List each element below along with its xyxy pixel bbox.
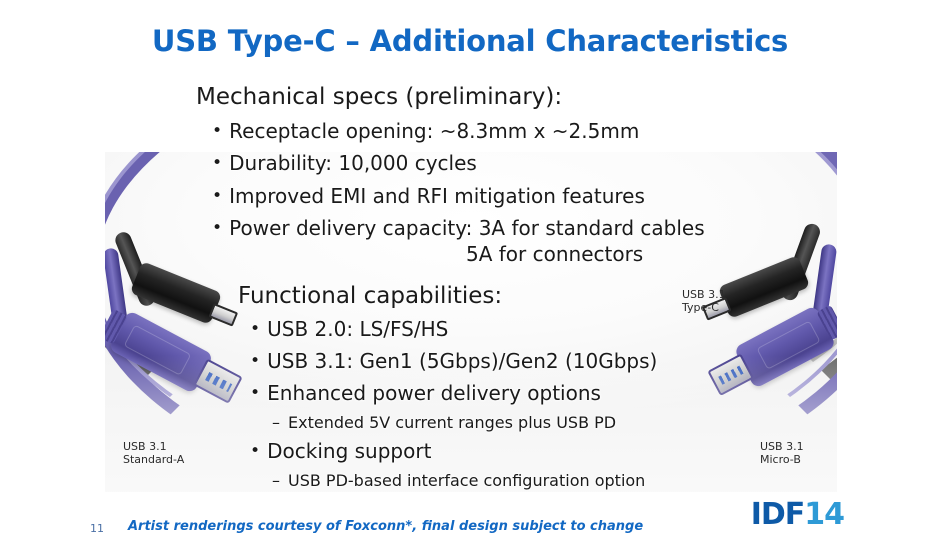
functional-subbullet-usb-pd-interface: USB PD-based interface configuration opt… — [272, 471, 645, 490]
idf-logo: IDF14 — [751, 500, 844, 530]
mechanical-bullet-durability: Durability: 10,000 cycles — [212, 151, 477, 175]
mechanical-bullet-emi-rfi: Improved EMI and RFI mitigation features — [212, 184, 645, 208]
mechanical-bullet-power-delivery: Power delivery capacity: 3A for standard… — [212, 216, 705, 240]
slide-number: 11 — [90, 522, 104, 535]
mechanical-specs-heading: Mechanical specs (preliminary): — [196, 84, 562, 110]
slide-root: USB Type-C – Additional Characteristics — [0, 0, 940, 540]
functional-bullet-docking-support: Docking support — [250, 439, 431, 463]
functional-capabilities-heading: Functional capabilities: — [238, 283, 502, 309]
mechanical-power-delivery-continuation: 5A for connectors — [466, 242, 643, 266]
functional-bullet-usb20: USB 2.0: LS/FS/HS — [250, 317, 448, 341]
functional-bullet-power-delivery-options: Enhanced power delivery options — [250, 381, 601, 405]
functional-bullet-usb31: USB 3.1: Gen1 (5Gbps)/Gen2 (10Gbps) — [250, 349, 657, 373]
functional-subbullet-extended-5v: Extended 5V current ranges plus USB PD — [272, 413, 616, 432]
footer-disclaimer: Artist renderings courtesy of Foxconn*, … — [128, 519, 643, 534]
idf-logo-brand: IDF — [751, 497, 805, 532]
caption-micro-b: USB 3.1 Micro-B — [760, 440, 804, 466]
mechanical-bullet-receptacle-opening: Receptacle opening: ~8.3mm x ~2.5mm — [212, 119, 639, 143]
caption-standard-a: USB 3.1 Standard-A — [123, 440, 184, 466]
caption-type-c: USB 3.1 Type-C — [682, 288, 726, 314]
page-title: USB Type-C – Additional Characteristics — [0, 24, 940, 58]
idf-logo-year: 14 — [804, 497, 844, 532]
